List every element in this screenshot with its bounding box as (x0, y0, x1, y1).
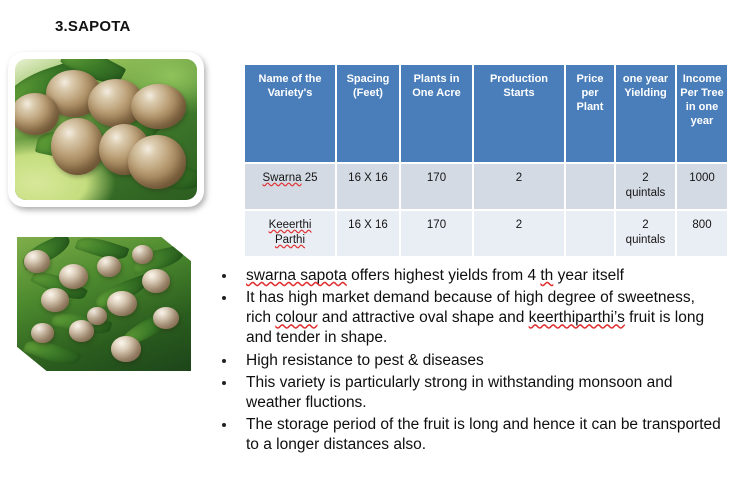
sapota-fruit (24, 250, 50, 273)
cell-price-per-plant (565, 163, 615, 210)
cell-plants-per-acre: 170 (400, 163, 473, 210)
column-header-price-per-plant: Price per Plant (565, 65, 615, 163)
column-header-plants-per-acre: Plants in One Acre (400, 65, 473, 163)
cell-income-per-tree: 800 (676, 210, 727, 256)
list-item: High resistance to pest & diseases (214, 351, 724, 371)
tree-scene-graphic (17, 237, 191, 371)
sapota-fruits-image (15, 59, 197, 200)
text-run: and attractive oval shape and (318, 309, 529, 326)
column-header-name: Name of the Variety's (245, 65, 336, 163)
bullet-list: swarna sapota offers highest yields from… (214, 266, 724, 457)
variety-comparison-table: Name of the Variety's Spacing (Feet) Pla… (245, 65, 727, 256)
list-item: It has high market demand because of hig… (214, 288, 724, 348)
table-row: KeeerthiParthi 16 X 16 170 2 2 quintals … (245, 210, 727, 256)
misspelled-text: th (540, 267, 553, 284)
sapota-fruit (69, 320, 93, 341)
text-run: offers highest yields from 4 (347, 267, 541, 284)
table-header-row: Name of the Variety's Spacing (Feet) Pla… (245, 65, 727, 163)
list-item: This variety is particularly strong in w… (214, 373, 724, 413)
sapota-fruit (15, 93, 59, 135)
text-run: This variety is particularly strong in w… (246, 374, 672, 411)
sapota-fruit (132, 245, 153, 264)
list-item: swarna sapota offers highest yields from… (214, 266, 724, 286)
text-run: High resistance to pest & diseases (246, 352, 484, 369)
sapota-fruit (131, 84, 186, 129)
cell-variety-name: KeeerthiParthi (245, 210, 336, 256)
sapota-tree-image (17, 237, 191, 371)
text-run: year itself (553, 267, 624, 284)
sapota-fruit (142, 269, 170, 293)
sapota-fruit (59, 264, 89, 289)
cell-one-year-yielding: 2 quintals (615, 210, 676, 256)
column-header-one-year-yielding: one year Yielding (615, 65, 676, 163)
misspelled-text: colour (275, 309, 317, 326)
misspelled-text: keerthiparthi’s (529, 309, 625, 326)
cell-plants-per-acre: 170 (400, 210, 473, 256)
column-header-income-per-tree: Income Per Tree in one year (676, 65, 727, 163)
variety-name-suffix: 25 (302, 172, 318, 184)
table-row: Swarna 25 16 X 16 170 2 2 quintals 1000 (245, 163, 727, 210)
list-item: The storage period of the fruit is long … (214, 415, 724, 455)
column-header-production-starts: Production Starts (473, 65, 565, 163)
variety-name-misspelled: Swarna (263, 172, 302, 184)
sapota-fruit (51, 118, 104, 174)
fruit-scene-graphic (15, 59, 197, 200)
cell-one-year-yielding: 2 quintals (615, 163, 676, 210)
sapota-fruit (128, 135, 186, 189)
misspelled-text: swarna sapota (246, 267, 347, 284)
sapota-fruit (111, 336, 141, 361)
cell-variety-name: Swarna 25 (245, 163, 336, 210)
sapota-fruit (31, 323, 54, 343)
variety-name-misspelled: Keeerthi (269, 219, 312, 231)
sapota-fruit (97, 256, 121, 277)
cell-production-starts: 2 (473, 210, 565, 256)
text-run: The storage period of the fruit is long … (246, 416, 721, 453)
page-title: 3.SAPOTA (55, 18, 131, 35)
sapota-fruit (153, 307, 179, 330)
sapota-tree-photo (8, 228, 200, 380)
variety-name-suffix: Parthi (275, 234, 305, 246)
cell-income-per-tree: 1000 (676, 163, 727, 210)
cell-spacing: 16 X 16 (336, 163, 400, 210)
sapota-fruit (41, 288, 69, 312)
cell-price-per-plant (565, 210, 615, 256)
cell-production-starts: 2 (473, 163, 565, 210)
sapota-fruits-photo (8, 52, 204, 207)
column-header-spacing: Spacing (Feet) (336, 65, 400, 163)
cell-spacing: 16 X 16 (336, 210, 400, 256)
leaf-shape (23, 335, 81, 370)
sapota-fruit (107, 291, 137, 316)
